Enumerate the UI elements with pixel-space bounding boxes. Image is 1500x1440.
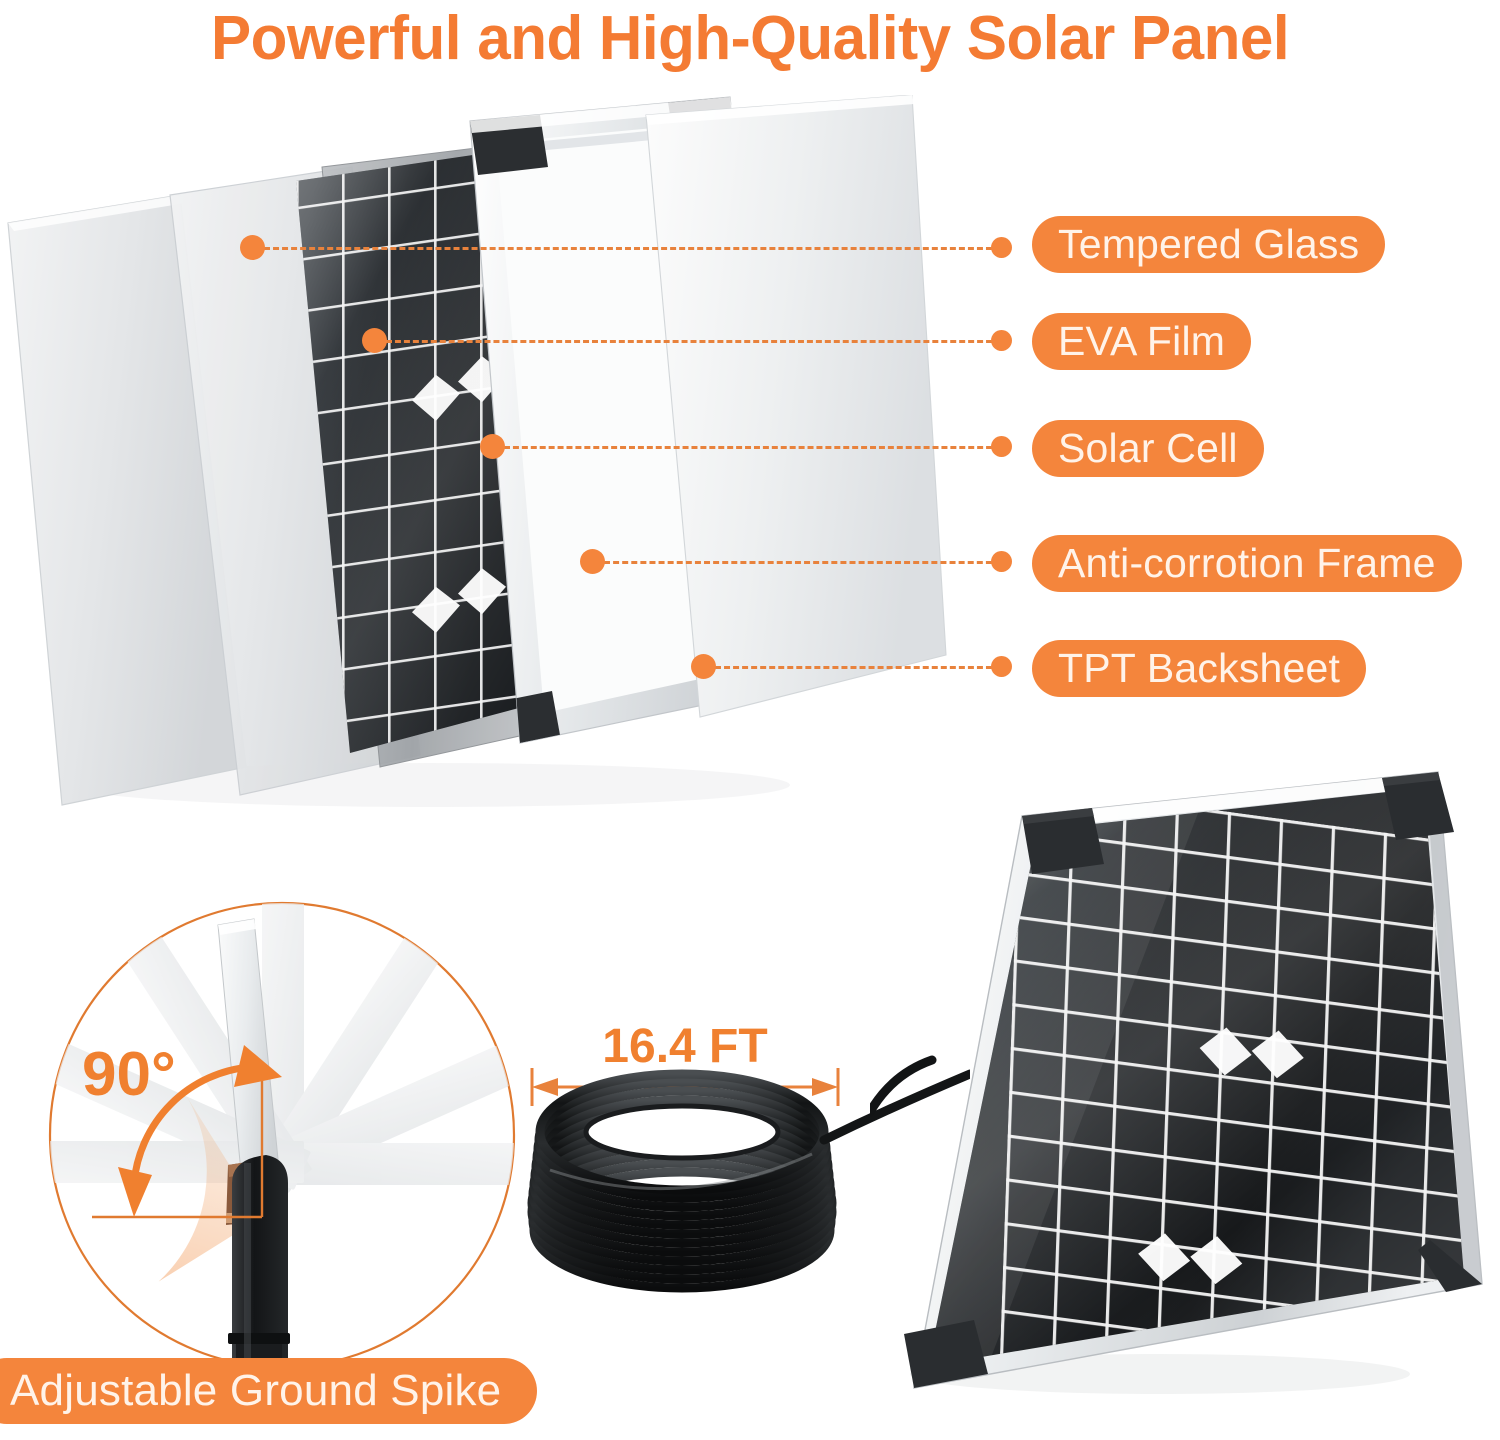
ground-spike-angle-diagram: 90° [30, 895, 550, 1415]
dimension-arrow-right [812, 1078, 838, 1096]
panel-output-cable [870, 1060, 932, 1112]
callout-source-dot-tpt-backsheet [691, 654, 716, 679]
callout-leader-solar-cell [504, 446, 1001, 449]
callout-leader-tempered-glass [264, 247, 1001, 250]
callout-end-dot-eva-film [991, 330, 1012, 351]
product-solar-panel [870, 760, 1500, 1420]
infographic-root: Powerful and High-Quality Solar Panel [0, 0, 1500, 1440]
callout-end-dot-tpt-backsheet [991, 656, 1012, 677]
callout-leader-eva-film [386, 340, 1001, 343]
callout-source-dot-anti-corrotion-frame [580, 549, 605, 574]
callout-source-dot-eva-film [362, 328, 387, 353]
cable-length-label: 16.4 FT [602, 1020, 767, 1073]
callout-pill-tempered-glass: Tempered Glass [1032, 216, 1385, 273]
dimension-arrow-left [532, 1078, 558, 1096]
page-title: Powerful and High-Quality Solar Panel [23, 2, 1478, 76]
callout-leader-anti-corrotion-frame [604, 561, 1001, 564]
callout-pill-solar-cell: Solar Cell [1032, 420, 1264, 477]
callout-source-dot-solar-cell [480, 434, 505, 459]
callout-source-dot-tempered-glass [240, 235, 265, 260]
callout-end-dot-tempered-glass [991, 237, 1012, 258]
callout-pill-anti-corrotion-frame: Anti-corrotion Frame [1032, 535, 1462, 592]
callout-end-dot-solar-cell [991, 436, 1012, 457]
callout-end-dot-anti-corrotion-frame [991, 551, 1012, 572]
callout-leader-tpt-backsheet [715, 666, 1001, 669]
angle-label: 90° [82, 1040, 176, 1109]
callout-pill-tpt-backsheet: TPT Backsheet [1032, 640, 1366, 697]
callout-pill-eva-film: EVA Film [1032, 313, 1251, 370]
ground-spike-caption: Adjustable Ground Spike [0, 1358, 537, 1424]
